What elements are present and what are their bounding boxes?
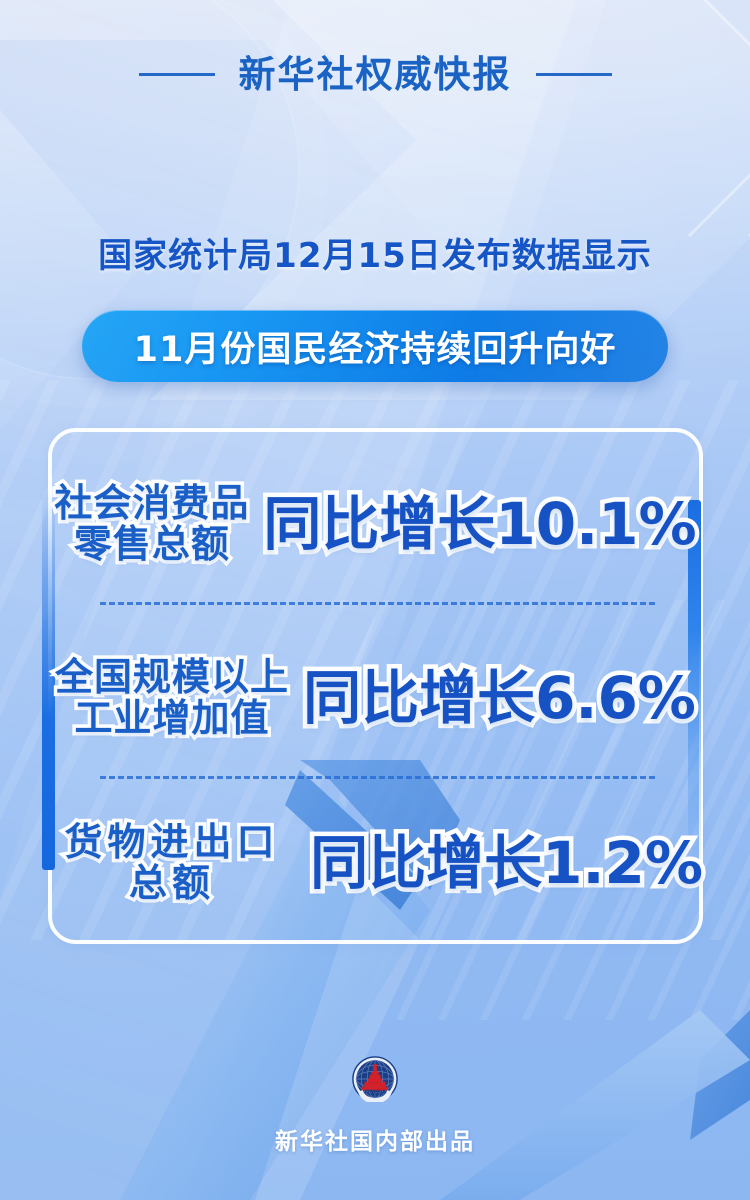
masthead-rule-right-icon — [536, 73, 612, 76]
chevron-icon-1 — [563, 0, 750, 237]
masthead-rule-left-icon — [139, 73, 215, 76]
xinhua-logo-caption: XINHUA — [364, 1090, 386, 1096]
indicator-row: 货物进出口总额 同比增长1.2% — [48, 808, 703, 918]
indicator-label: 货物进出口总额 — [48, 822, 296, 904]
indicator-label: 社会消费品 零售总额 — [54, 483, 249, 565]
indicator-list: 社会消费品 零售总额 同比增长10.1% 全国规模以上 工业增加值 同比增长6.… — [48, 428, 703, 944]
row-divider — [100, 602, 655, 605]
masthead-title: 新华社权威快报 — [239, 56, 512, 93]
row-divider — [100, 776, 655, 779]
chevron-icon-2 — [623, 0, 750, 237]
poster-canvas: 新华社权威快报 国家统计局12月15日发布数据显示 11月份国民经济持续回升向好… — [0, 0, 750, 1200]
indicator-value: 同比增长1.2% — [310, 834, 703, 892]
indicator-row: 全国规模以上 工业增加值 同比增长6.6% — [48, 634, 703, 762]
indicator-label: 全国规模以上 工业增加值 — [55, 657, 289, 739]
headline-pill-label: 11月份国民经济持续回升向好 — [134, 321, 617, 372]
footer-credit: 新华社国内部出品 — [0, 1122, 750, 1156]
subtitle: 国家统计局12月15日发布数据显示 — [0, 228, 750, 277]
masthead: 新华社权威快报 — [0, 56, 750, 93]
indicator-value: 同比增长10.1% — [263, 495, 696, 553]
headline-pill: 11月份国民经济持续回升向好 — [82, 310, 668, 382]
indicator-row: 社会消费品 零售总额 同比增长10.1% — [48, 460, 703, 588]
chevron-icon-3 — [683, 0, 750, 237]
xinhua-logo-icon: XINHUA — [352, 1056, 398, 1102]
indicator-value: 同比增长6.6% — [303, 669, 696, 727]
